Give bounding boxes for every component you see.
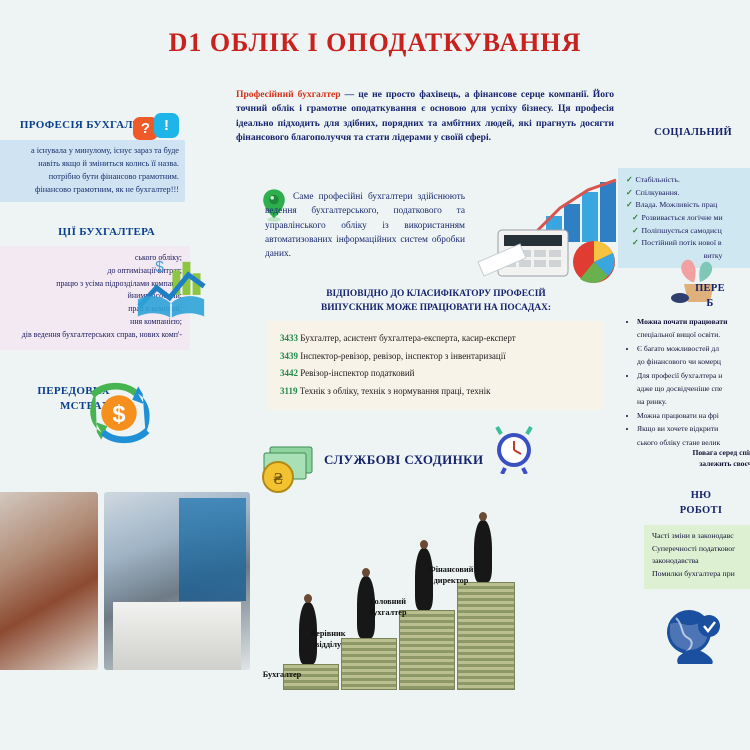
right-social-item: ✓Влада. Можливість прац — [626, 199, 750, 212]
ladder-label-1: Бухгалтер — [251, 670, 313, 680]
svg-text:$: $ — [112, 402, 125, 428]
classifier-row: 3433 Бухгалтер, асистент бухгалтера-експ… — [280, 330, 592, 348]
right-difficulties-item: Суперечності податковог — [652, 543, 750, 556]
photo-student-profile — [0, 492, 98, 670]
classifier-title: Технік з обліку, технік з нормування пра… — [300, 386, 491, 396]
classifier-title: Інспектор-ревізор, ревізор, інспектор з … — [300, 351, 505, 361]
exclamation-bubble-icon: ! — [154, 113, 179, 138]
check-icon: ✓ — [632, 213, 639, 222]
classifier-title: Ревізор-інспектор податковий — [300, 368, 414, 378]
intro-paragraph: Професійний бухгалтер — це не просто фах… — [236, 88, 614, 146]
right-social-item: ✓Розвивається логічне ми — [626, 212, 750, 225]
right-difficulties-item: законодавства — [652, 555, 750, 568]
ladder-label-2: Керівник відділу — [299, 629, 357, 650]
right-difficulties-heading-line2: РОБОТІ — [636, 504, 750, 519]
left-profession-line: а існувала у минулому, існує зараз та бу… — [0, 145, 179, 158]
right-difficulties-item: Помилки бухгалтера при — [652, 568, 750, 581]
check-icon: ✓ — [632, 238, 639, 247]
right-social-item-text: Розвивається логічне ми — [642, 213, 723, 222]
calculator-charts-image — [468, 178, 628, 290]
right-advantages-item: Можна працювати на фрі — [637, 410, 750, 421]
right-advantages-heading: ПЕРЕ Б — [640, 282, 750, 311]
right-social-item: ✓Спілкування. — [626, 187, 750, 200]
right-advantages-item: до фінансового чи комерц — [637, 356, 750, 367]
right-social-heading: СОЦІАЛЬНИЙ БУХ — [598, 126, 750, 155]
right-difficulties-list: Часті зміни в законодавс Суперечності по… — [644, 525, 750, 589]
ladder-label-4: Фінансовий директор — [419, 565, 483, 586]
classifier-heading: ВІДПОВІДНО ДО КЛАСИФІКАТОРУ ПРОФЕСІЙ ВИП… — [268, 288, 604, 315]
classifier-code: 3433 — [280, 333, 298, 343]
classifier-code: 3119 — [280, 386, 298, 396]
right-advantages-item: спеціальної вищої освіти. — [637, 329, 750, 340]
right-advantages-heading-line2: Б — [640, 297, 750, 312]
right-advantages-item: Якщо ви хочете відкрити — [637, 423, 750, 434]
figure-head — [304, 594, 312, 603]
right-difficulties-item: Часті зміни в законодавс — [652, 530, 750, 543]
check-icon: ✓ — [632, 226, 639, 235]
right-advantages-note-line1: Повага серед співробітни — [636, 447, 750, 458]
chart-book-icon: $ — [135, 256, 207, 318]
classifier-row: 3439 Інспектор-ревізор, ревізор, інспект… — [280, 348, 592, 366]
left-profession-line: навіть якщо й зміниться колись її назва. — [0, 158, 179, 171]
left-profession-textbox: а існувала у минулому, існує зараз та бу… — [0, 140, 185, 202]
check-icon: ✓ — [626, 188, 633, 197]
right-social-item-text: Спілкування. — [636, 188, 680, 197]
classifier-row: 3119 Технік з обліку, технік з нормуванн… — [280, 383, 592, 401]
paragraph-2: Саме професійні бухгалтери здійснюють ве… — [265, 190, 465, 261]
left-functions-line: дів ведення бухгалтерських справ, нових … — [0, 329, 182, 342]
classifier-code: 3442 — [280, 368, 298, 378]
career-ladder: Бухгалтер Керівник відділу Головний бухг… — [255, 470, 585, 690]
right-social-item-text: Стабільність. — [636, 175, 680, 184]
globe-handshake-icon — [662, 604, 724, 666]
right-social-heading-line1: СОЦІАЛЬНИЙ — [598, 126, 750, 141]
right-advantages-item: Є багато можливостей дл — [637, 343, 750, 354]
poster-canvas: D1 ОБЛІК І ОПОДАТКУВАННЯ ПРОФЕСІЯ БУХГАЛ… — [0, 0, 750, 750]
check-icon: ✓ — [626, 175, 633, 184]
left-profession-line: потрібно бути фінансово грамотним. — [0, 171, 179, 184]
right-advantages-item: Можна почати працювати — [637, 316, 750, 327]
ladder-label-3: Головний бухгалтер — [359, 597, 417, 618]
figure-head — [420, 540, 428, 549]
right-advantages-note-line2: залежить своєчасніст — [636, 458, 750, 469]
classifier-code: 3439 — [280, 351, 298, 361]
classifier-title: Бухгалтер, асистент бухгалтера-експерта,… — [300, 333, 515, 343]
figure-head — [479, 512, 487, 521]
figure-head — [362, 568, 370, 577]
classifier-heading-line2: ВИПУСКНИК МОЖЕ ПРАЦЮВАТИ НА ПОСАДАХ: — [268, 302, 604, 316]
svg-text:$: $ — [155, 259, 164, 276]
right-social-item-text: Постійний потік нової в — [642, 238, 722, 247]
right-advantages-item: адже що досвідченіше спе — [637, 383, 750, 394]
right-social-item: ✓Постійний потік нової в — [626, 237, 750, 250]
right-social-item-text: Поліпшується самодисц — [642, 226, 722, 235]
right-social-item: ✓Стабільність. — [626, 174, 750, 187]
right-advantages-heading-line1: ПЕРЕ — [640, 282, 750, 297]
money-stack-step-4 — [457, 582, 515, 690]
right-advantages-item: на ринку. — [637, 396, 750, 407]
classifier-list: 3433 Бухгалтер, асистент бухгалтера-експ… — [268, 321, 604, 410]
left-profession-line: фінансово грамотним, як не бухгалтер!!! — [0, 184, 179, 197]
right-advantages-note: Повага серед співробітни залежить своєча… — [636, 447, 750, 470]
page-title: D1 ОБЛІК І ОПОДАТКУВАННЯ — [0, 28, 750, 58]
right-advantages-list: Можна почати працювати спеціальної вищої… — [637, 316, 750, 450]
right-difficulties-heading: НЮ РОБОТІ — [636, 489, 750, 518]
left-functions-heading: ЦІЇ БУХГАЛТЕРА — [0, 226, 155, 238]
speech-bubbles-icon-group: ? ! — [133, 113, 183, 143]
intro-highlight: Професійний бухгалтер — [236, 89, 341, 100]
classifier-heading-line1: ВІДПОВІДНО ДО КЛАСИФІКАТОРУ ПРОФЕСІЙ — [268, 288, 604, 302]
right-social-item: ✓Поліпшується самодисц — [626, 225, 750, 238]
right-social-item-text: Влада. Можливість прац — [636, 200, 718, 209]
money-cycle-icon: $ — [82, 382, 156, 444]
right-social-list: ✓Стабільність. ✓Спілкування. ✓Влада. Мож… — [618, 168, 750, 268]
ladder-title: СЛУЖБОВІ СХОДИНКИ — [324, 452, 524, 468]
check-icon: ✓ — [626, 200, 633, 209]
money-stack-step-3 — [399, 610, 455, 690]
classifier-row: 3442 Ревізор-інспектор податковий — [280, 365, 592, 383]
right-difficulties-heading-line1: НЮ — [636, 489, 750, 504]
photo-office-workplace — [104, 492, 250, 670]
right-advantages-item: Для професії бухгалтера н — [637, 370, 750, 381]
right-social-heading-line2: БУХ — [598, 141, 750, 156]
